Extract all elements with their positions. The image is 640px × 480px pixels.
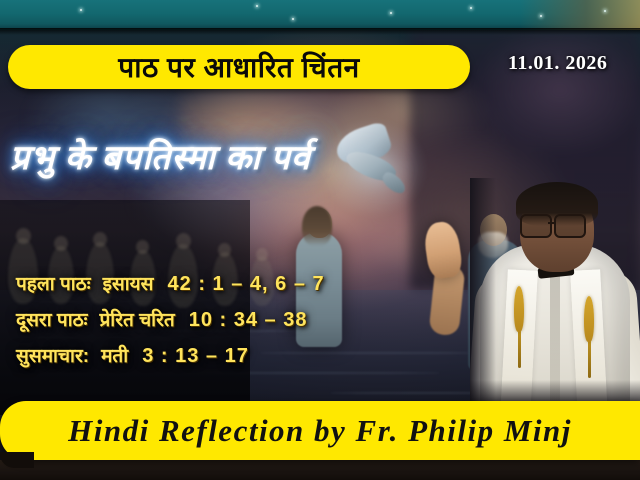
bottom-bar: [0, 460, 640, 480]
jesus-hair: [302, 206, 332, 246]
star-speck: [292, 18, 294, 20]
reading-book: प्रेरित चरित: [100, 306, 175, 332]
star-speck: [470, 7, 472, 9]
reading-book: इसायस: [103, 270, 154, 296]
star-speck: [604, 10, 606, 12]
presenter-edge-fade-left: [470, 178, 496, 406]
reading-book: मती: [101, 342, 128, 368]
reading-label: सुसमाचार:: [16, 342, 89, 368]
crowd-figure-head: [54, 236, 68, 251]
eyeglasses-bridge: [548, 222, 556, 224]
crowd-figure-head: [256, 248, 268, 261]
reading-label: पहला पाठः: [16, 270, 91, 296]
reading-row: दूसरा पाठः प्रेरित चरित 10 : 34 – 38: [16, 306, 446, 332]
page-title: प्रभु के बपतिस्मा का पर्व: [10, 133, 520, 179]
eyeglasses-icon: [554, 214, 586, 238]
crowd-figure-head: [93, 232, 107, 247]
footer-banner-label: Hindi Reflection by Fr. Philip Minj: [0, 401, 640, 460]
crowd-figure-head: [16, 228, 31, 244]
star-speck: [390, 12, 392, 14]
wheat-ear-icon: [514, 286, 524, 332]
reading-row: पहला पाठः इसायस 42 : 1 – 4, 6 – 7: [16, 270, 446, 296]
footer-banner: Hindi Reflection by Fr. Philip Minj: [0, 401, 640, 460]
readings-list: पहला पाठः इसायस 42 : 1 – 4, 6 – 7 दूसरा …: [16, 270, 446, 378]
star-speck: [540, 15, 542, 17]
reading-reference: 3 : 13 – 17: [142, 345, 249, 368]
top-strip-gold-fade: [520, 0, 640, 30]
header-badge: पाठ पर आधारित चिंतन: [8, 45, 470, 89]
wheat-stem-icon: [588, 336, 591, 378]
wheat-stem-icon: [518, 326, 521, 368]
reading-row: सुसमाचार: मती 3 : 13 – 17: [16, 342, 446, 368]
reading-reference: 10 : 34 – 38: [189, 309, 308, 332]
thumbnail-canvas: पाठ पर आधारित चिंतन 11.01. 2026 प्रभु के…: [0, 0, 640, 480]
reading-label: दूसरा पाठः: [16, 306, 88, 332]
eyeglasses-icon: [520, 214, 552, 238]
crowd-figure-head: [136, 240, 149, 254]
reading-reference: 42 : 1 – 4, 6 – 7: [168, 273, 325, 296]
crowd-figure-head: [218, 243, 231, 257]
presenter-photo: [470, 178, 640, 406]
star-speck: [256, 5, 258, 7]
crowd-figure-head: [176, 233, 191, 249]
header-badge-label: पाठ पर आधारित चिंतन: [8, 45, 470, 89]
wheat-ear-icon: [584, 296, 594, 342]
date-text: 11.01. 2026: [508, 52, 607, 75]
star-speck: [80, 9, 82, 11]
top-strip-shadow: [0, 28, 640, 35]
